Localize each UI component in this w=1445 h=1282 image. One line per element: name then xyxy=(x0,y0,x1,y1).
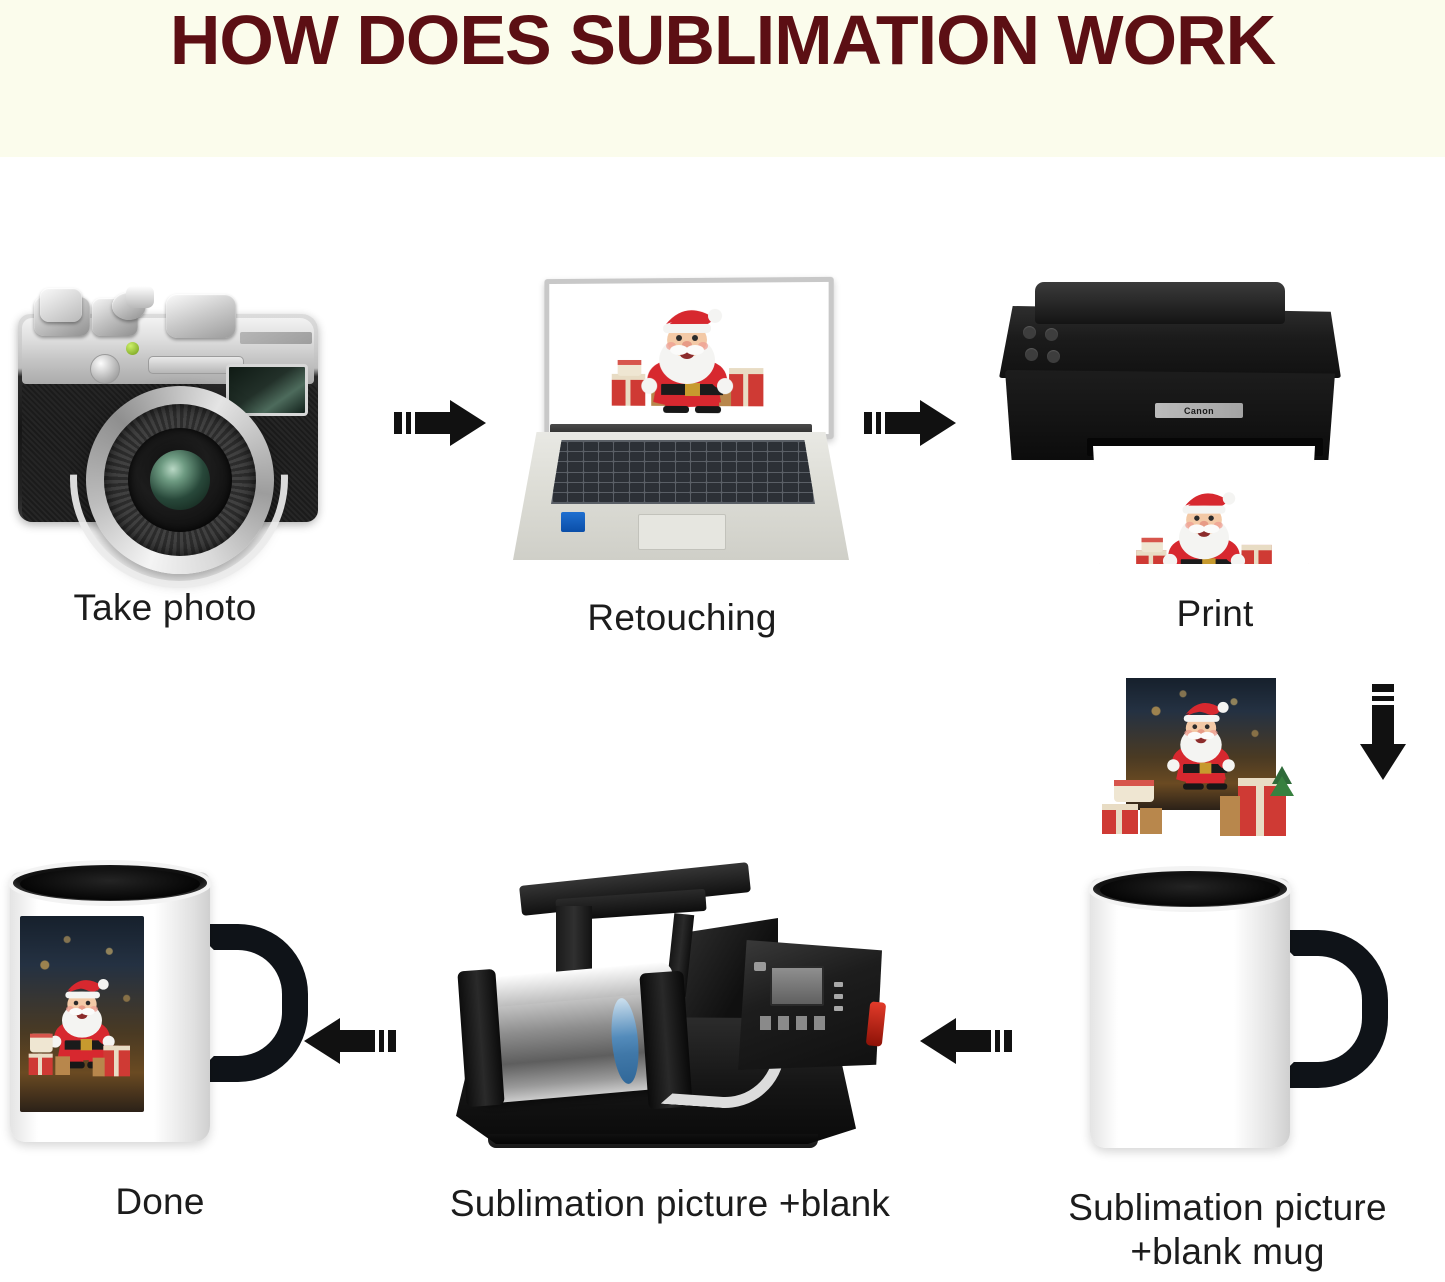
arrow-mug-to-press xyxy=(916,1014,1020,1068)
santa-artwork-on-mug xyxy=(20,916,144,1112)
step-label-blank-mug: Sublimation picture +blank mug xyxy=(1010,1186,1445,1273)
sublimation-printed-picture xyxy=(1100,678,1300,848)
step-label-retouching: Retouching xyxy=(487,596,877,640)
infographic-canvas: HOW DOES SUBLIMATION WORK Take photo xyxy=(0,0,1445,1282)
blank-mug-icon xyxy=(1090,878,1390,1178)
printer-brand-logo: Canon xyxy=(1155,403,1243,418)
step-label-done: Done xyxy=(0,1180,320,1224)
step-label-heat-press: Sublimation picture +blank xyxy=(375,1182,965,1226)
step-label-print: Print xyxy=(1030,592,1400,636)
step-label-take-photo: Take photo xyxy=(0,586,330,630)
arrow-laptop-to-printer xyxy=(856,396,960,450)
santa-artwork-on-paper xyxy=(1129,486,1279,586)
mug-interior xyxy=(20,868,200,900)
page-title: HOW DOES SUBLIMATION WORK xyxy=(0,0,1445,82)
press-digital-display xyxy=(770,966,824,1006)
printer-control-buttons xyxy=(1023,326,1067,370)
camera-icon xyxy=(8,272,330,564)
intel-sticker-icon xyxy=(561,512,585,532)
mug-interior xyxy=(1100,874,1280,906)
press-button-row[interactable] xyxy=(760,1016,830,1030)
mug-heat-press-icon xyxy=(448,866,888,1171)
arrow-press-to-done xyxy=(300,1014,404,1068)
printed-paper xyxy=(1093,446,1315,564)
printer-icon: Canon xyxy=(995,278,1345,568)
laptop-touchpad xyxy=(638,514,726,550)
laptop-screen xyxy=(549,282,828,434)
laptop-icon xyxy=(510,272,855,572)
mug-body xyxy=(1090,878,1290,1148)
gift-boxes-right xyxy=(1218,762,1302,840)
finished-mug-icon xyxy=(10,872,310,1172)
gift-boxes-left xyxy=(1100,774,1176,836)
laptop-keyboard xyxy=(551,440,815,504)
arrow-camera-to-laptop xyxy=(386,396,490,450)
press-power-switch[interactable] xyxy=(866,1001,887,1046)
santa-artwork-on-screen xyxy=(604,302,772,415)
arrow-printer-to-mug xyxy=(1348,676,1418,786)
